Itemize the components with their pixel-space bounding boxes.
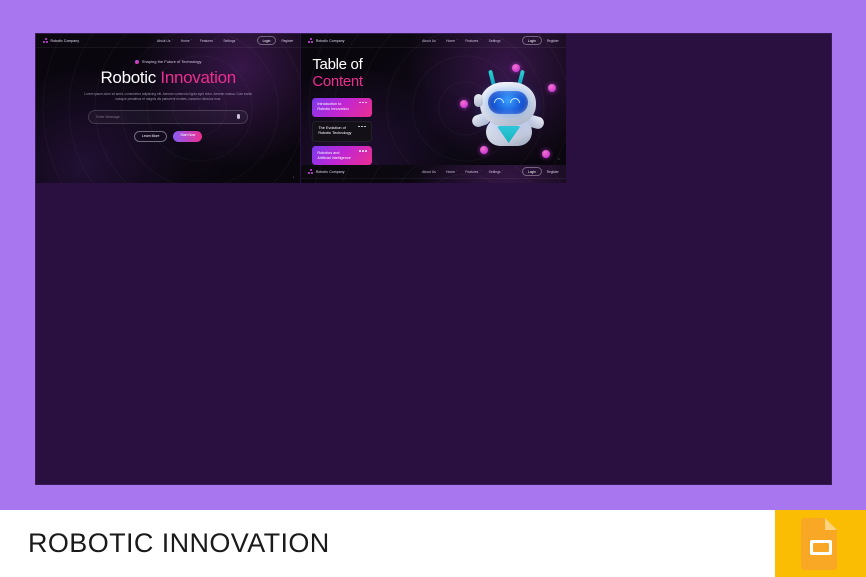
toc-item-label: Robotics andArtificial Intelligence <box>317 151 366 161</box>
nav-links: About Us ˇ Home ˇ Features ˇ Settings ˇ <box>422 170 503 174</box>
microphone-icon[interactable] <box>237 114 240 119</box>
brand-name: Robotic Company <box>316 39 345 43</box>
nav-link-about-us[interactable]: About Us ˇ <box>422 39 438 43</box>
robot-ear-left <box>474 94 483 107</box>
toc-item[interactable]: The Evolution ofRobotic Technology <box>312 121 371 142</box>
logo-dots-icon <box>308 169 313 174</box>
chevron-down-icon: ˇ <box>456 39 457 42</box>
chevron-down-icon: ˇ <box>214 39 215 42</box>
more-options-icon[interactable] <box>358 126 365 128</box>
nav-link-label: Features <box>465 39 478 43</box>
nav-link-settings[interactable]: Settings ˇ <box>489 39 503 43</box>
bottom-title-bar: ROBOTIC INNOVATION <box>0 510 866 577</box>
brand-name: Robotic Company <box>316 170 345 174</box>
chevron-down-icon: ˇ <box>502 39 503 42</box>
chevron-down-icon: ˇ <box>191 39 192 42</box>
slide-3[interactable]: Robotic Company About Us ˇ Home ˇ Featur… <box>301 165 565 183</box>
google-slides-icon <box>775 510 866 577</box>
more-options-icon[interactable] <box>359 102 366 104</box>
nav-link-label: Settings <box>223 39 235 43</box>
register-button[interactable]: Register <box>547 39 559 43</box>
toc-item-label: Introduction toRobotic Innovation <box>317 102 366 112</box>
nav-actions: Login Register <box>522 167 559 176</box>
brand-logo[interactable]: Robotic Company <box>308 169 344 174</box>
login-button[interactable]: Login <box>522 167 542 176</box>
brand-logo[interactable]: Robotic Company <box>43 38 79 43</box>
login-button[interactable]: Login <box>522 36 542 45</box>
nav-link-features[interactable]: Features ˇ <box>465 170 480 174</box>
floating-orb <box>542 150 550 158</box>
template-title: ROBOTIC INNOVATION <box>28 528 330 559</box>
floating-orb <box>480 146 488 154</box>
nav-link-about-us[interactable]: About Us ˇ <box>157 39 173 43</box>
template-preview-page: Robotic Company About Us ˇ Home ˇ Featur… <box>0 0 866 577</box>
logo-dots-icon <box>308 38 313 43</box>
chevron-down-icon: ˇ <box>480 39 481 42</box>
title-line-2: Content <box>312 73 362 90</box>
toc-item-label: The Evolution ofRobotic Technology <box>318 126 365 136</box>
more-options-icon[interactable] <box>359 150 366 152</box>
brand-name: Robotic Company <box>51 39 80 43</box>
nav-link-label: About Us <box>422 39 436 43</box>
toc-list: Introduction toRobotic Innovation The Ev… <box>312 98 371 166</box>
nav-link-label: About Us <box>157 39 171 43</box>
nav-link-label: Home <box>446 39 455 43</box>
toc-item[interactable]: Robotics andArtificial Intelligence <box>312 146 371 165</box>
chevron-down-icon: ˇ <box>237 39 238 42</box>
message-input[interactable]: Enter Message <box>88 110 248 124</box>
navbar: Robotic Company About Us ˇ Home ˇ Featur… <box>301 34 565 48</box>
sparkle-icon <box>135 60 139 64</box>
navbar: Robotic Company About Us ˇ Home ˇ Featur… <box>36 34 300 48</box>
robot-eye-left <box>494 98 504 103</box>
nav-link-label: Settings <box>489 39 501 43</box>
title-line-1: Table of <box>312 56 362 73</box>
start-now-button[interactable]: Start Now <box>173 131 202 142</box>
hero-buttons: Learn More Start Now <box>47 131 289 142</box>
purple-stage: Robotic Company About Us ˇ Home ˇ Featur… <box>0 0 866 510</box>
robot-mascot <box>464 66 556 158</box>
nav-link-home[interactable]: Home ˇ <box>181 39 192 43</box>
register-button[interactable]: Register <box>547 170 559 174</box>
message-placeholder: Enter Message <box>96 115 120 119</box>
nav-actions: Login Register <box>522 36 559 45</box>
robot-eye-right <box>510 98 520 103</box>
learn-more-button[interactable]: Learn More <box>134 131 167 142</box>
chevron-down-icon: ˇ <box>456 170 457 173</box>
chevron-down-icon: ˇ <box>502 170 503 173</box>
nav-link-features[interactable]: Features ˇ <box>200 39 215 43</box>
nav-actions: Login Register <box>257 36 294 45</box>
login-button[interactable]: Login <box>257 36 277 45</box>
hero-body: Lorem ipsum dolor sit amet, consectetur … <box>79 92 258 103</box>
nav-link-about-us[interactable]: About Us ˇ <box>422 170 438 174</box>
title-line-1: Robotic <box>100 68 156 87</box>
page-number: 2 <box>558 157 560 161</box>
chevron-down-icon: ˇ <box>172 39 173 42</box>
nav-link-features[interactable]: Features ˇ <box>465 39 480 43</box>
nav-links: About Us ˇ Home ˇ Features ˇ Settings ˇ <box>422 39 503 43</box>
nav-link-label: Features <box>465 170 478 174</box>
nav-link-label: Settings <box>489 170 501 174</box>
page-title: Table of Content <box>312 57 438 91</box>
chevron-down-icon: ˇ <box>480 170 481 173</box>
navbar: Robotic Company About Us ˇ Home ˇ Featur… <box>301 165 565 179</box>
nav-link-home[interactable]: Home ˇ <box>446 170 457 174</box>
page-title: Robotic Innovation <box>47 68 289 87</box>
nav-link-label: Home <box>446 170 455 174</box>
chevron-down-icon: ˇ <box>437 170 438 173</box>
chevron-down-icon: ˇ <box>437 39 438 42</box>
slide-2[interactable]: Robotic Company About Us ˇ Home ˇ Featur… <box>301 34 565 183</box>
brand-logo[interactable]: Robotic Company <box>308 38 344 43</box>
floating-orb <box>460 100 468 108</box>
title-line-2: Innovation <box>160 68 235 87</box>
floating-orb <box>512 64 520 72</box>
slide-deck-grid: Robotic Company About Us ˇ Home ˇ Featur… <box>35 33 832 485</box>
nav-link-label: Home <box>181 39 190 43</box>
eyebrow-text: Shaping the Future of Technology <box>142 59 202 64</box>
nav-links: About Us ˇ Home ˇ Features ˇ Settings ˇ <box>157 39 238 43</box>
logo-dots-icon <box>43 38 48 43</box>
nav-link-home[interactable]: Home ˇ <box>446 39 457 43</box>
eyebrow: Shaping the Future of Technology <box>47 59 289 64</box>
nav-link-label: About Us <box>422 170 436 174</box>
toc-item[interactable]: Introduction toRobotic Innovation <box>312 98 371 117</box>
slide-1[interactable]: Robotic Company About Us ˇ Home ˇ Featur… <box>36 34 300 183</box>
nav-link-label: Features <box>200 39 213 43</box>
nav-link-settings[interactable]: Settings ˇ <box>489 170 503 174</box>
nav-link-settings[interactable]: Settings ˇ <box>223 39 237 43</box>
page-number: 1 <box>293 175 295 179</box>
floating-orb <box>548 84 556 92</box>
register-button[interactable]: Register <box>281 39 293 43</box>
